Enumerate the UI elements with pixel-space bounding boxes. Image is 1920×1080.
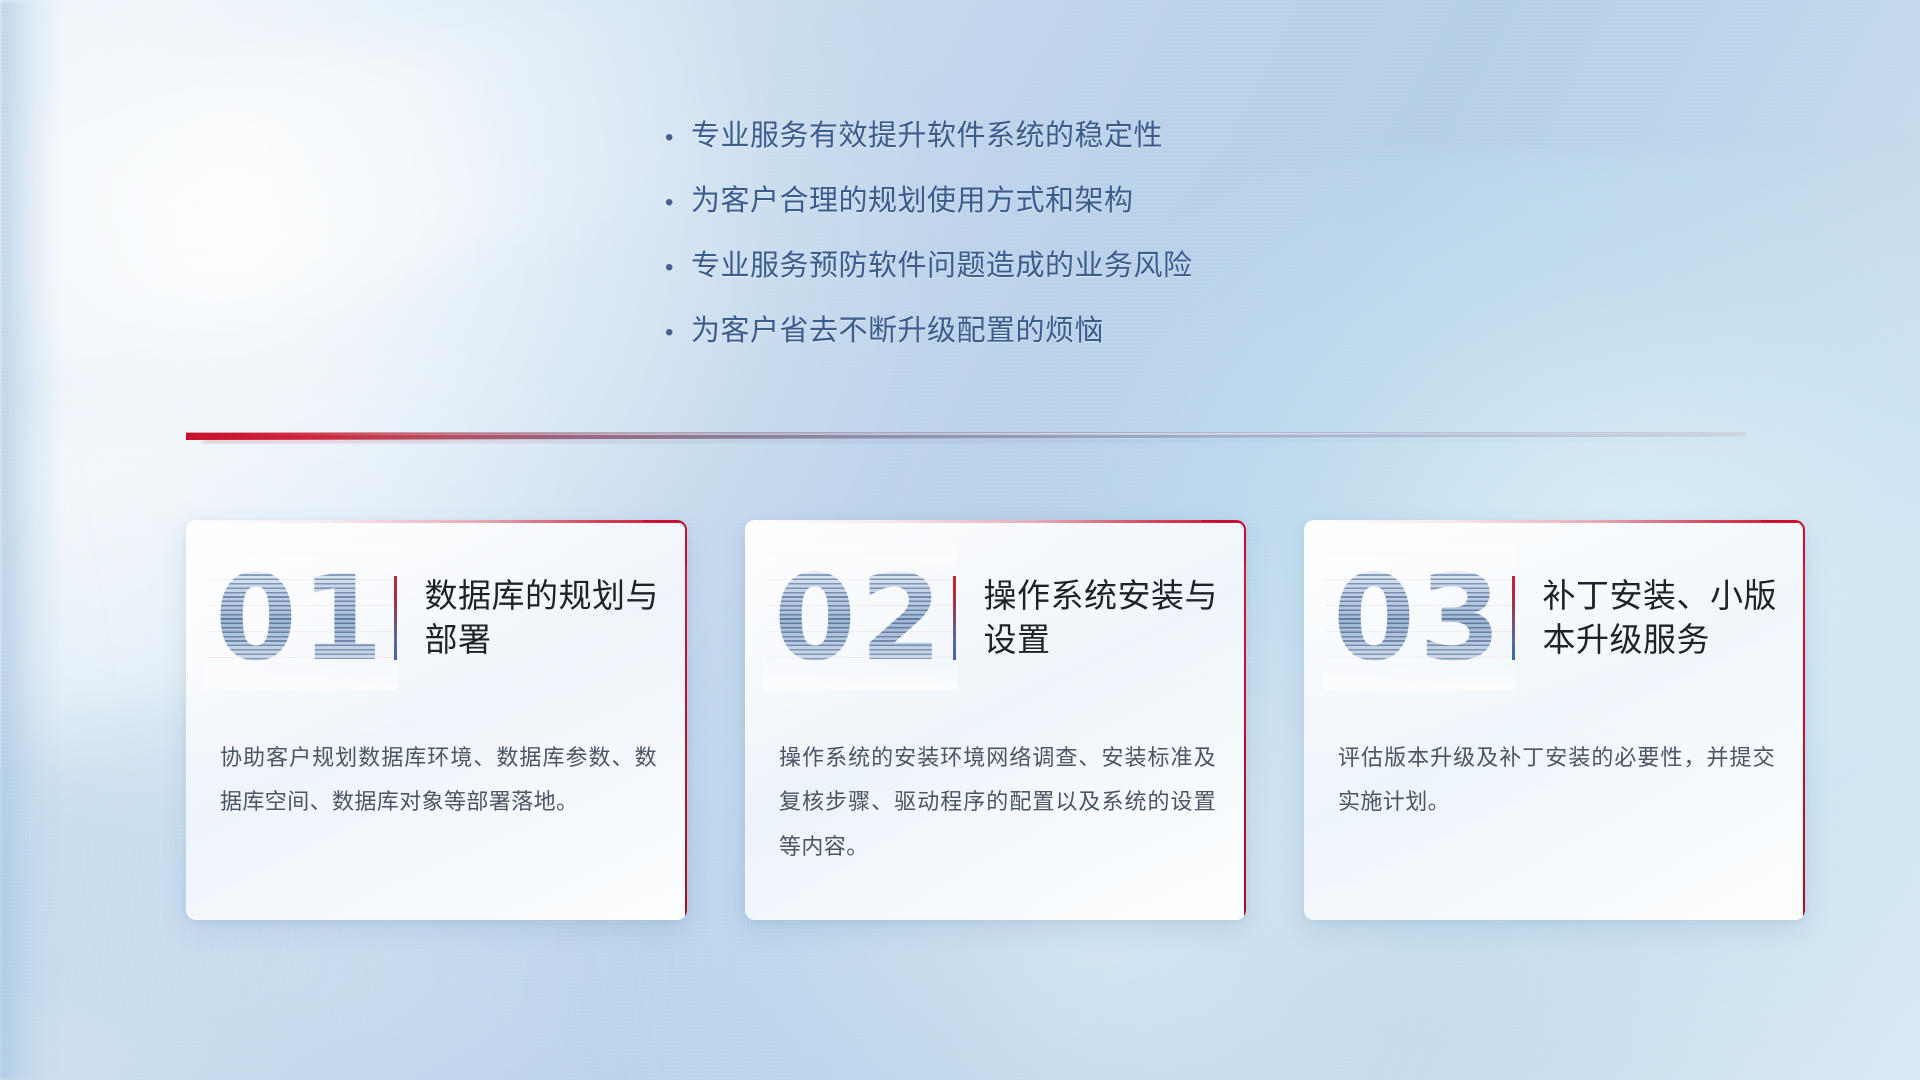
service-card-01[interactable]: 01 数据库的规划与部署 协助客户规划数据库环境、数据库参数、数据库空间、数据库… [186,520,687,920]
card-title-divider [394,576,397,660]
service-card-02[interactable]: 02 操作系统安装与设置 操作系统的安装环境网络调查、安装标准及复核步骤、驱动程… [745,520,1246,920]
list-item: • 为客户合理的规划使用方式和架构 [665,177,1485,242]
bullet-item-label: 专业服务有效提升软件系统的稳定性 [691,112,1163,154]
service-card-03[interactable]: 03 补丁安装、小版本升级服务 评估版本升级及补丁安装的必要性，并提交实施计划。 [1304,520,1805,920]
bullet-item-label: 为客户省去不断升级配置的烦恼 [691,307,1104,349]
card-description: 评估版本升级及补丁安装的必要性，并提交实施计划。 [1338,736,1775,825]
card-number-label: 03 [1333,559,1505,677]
card-title: 数据库的规划与部署 [425,574,688,661]
card-number-label: 02 [774,559,946,677]
divider-shadow [202,439,1731,444]
benefits-bullet-list: • 专业服务有效提升软件系统的稳定性 • 为客户合理的规划使用方式和架构 • 专… [665,112,1485,372]
card-description: 协助客户规划数据库环境、数据库参数、数据库空间、数据库对象等部署落地。 [220,736,657,825]
list-item: • 为客户省去不断升级配置的烦恼 [665,307,1485,372]
section-divider [186,430,1746,446]
card-title-divider [953,576,956,660]
card-title: 补丁安装、小版本升级服务 [1543,574,1806,661]
bullet-item-label: 专业服务预防软件问题造成的业务风险 [691,242,1193,284]
card-header: 03 补丁安装、小版本升级服务 [1304,520,1805,716]
bullet-item-label: 为客户合理的规划使用方式和架构 [691,177,1134,219]
card-header: 02 操作系统安装与设置 [745,520,1246,716]
card-description: 操作系统的安装环境网络调查、安装标准及复核步骤、驱动程序的配置以及系统的设置等内… [779,736,1216,869]
card-number-watermark: 02 [767,552,953,684]
bullet-marker-icon: • [665,256,691,280]
card-number-watermark: 03 [1326,552,1512,684]
card-header: 01 数据库的规划与部署 [186,520,687,716]
bullet-marker-icon: • [665,321,691,345]
service-card-group: 01 数据库的规划与部署 协助客户规划数据库环境、数据库参数、数据库空间、数据库… [186,520,1806,920]
list-item: • 专业服务预防软件问题造成的业务风险 [665,242,1485,307]
card-number-watermark: 01 [208,552,394,684]
bullet-marker-icon: • [665,191,691,215]
bullet-marker-icon: • [665,126,691,150]
card-title-divider [1512,576,1515,660]
card-number-label: 01 [215,559,387,677]
card-title: 操作系统安装与设置 [984,574,1247,661]
list-item: • 专业服务有效提升软件系统的稳定性 [665,112,1485,177]
